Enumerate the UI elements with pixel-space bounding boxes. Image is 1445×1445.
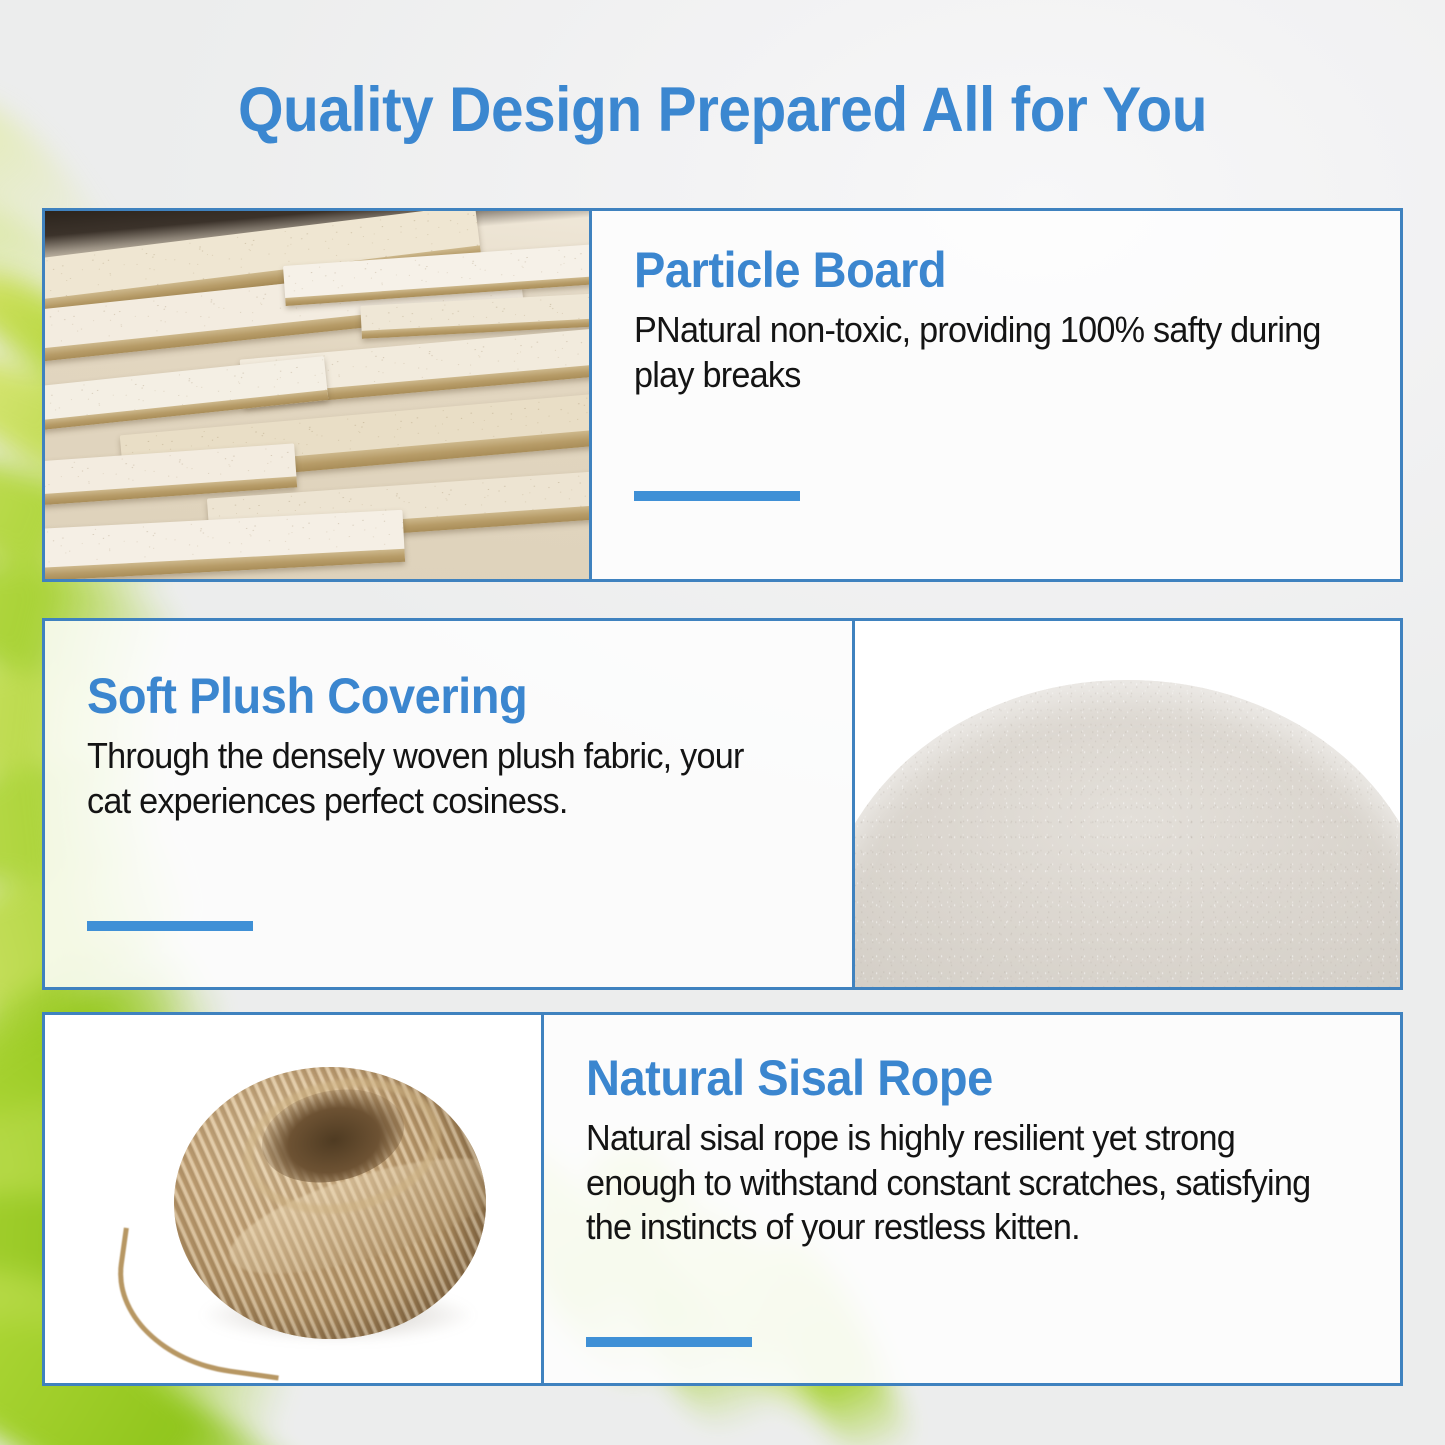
sisal-rope-text-panel: Natural Sisal Rope Natural sisal rope is… [544,1015,1400,1383]
page-title: Quality Design Prepared All for You [51,74,1395,146]
sisal-rope-photo [45,1015,544,1383]
feature-card-particle-board: Particle Board PNatural non-toxic, provi… [42,208,1403,582]
infographic-page: Quality Design Prepared All for You [0,0,1445,1445]
plush-fabric-photo [855,621,1400,987]
particle-board-photo [45,211,592,579]
accent-bar [87,921,253,931]
feature-card-natural-sisal-rope: Natural Sisal Rope Natural sisal rope is… [42,1012,1403,1386]
feature-body: PNatural non-toxic, providing 100% safty… [634,308,1322,397]
soft-plush-text-panel: Soft Plush Covering Through the densely … [45,621,855,987]
accent-bar [634,491,800,501]
accent-bar [586,1337,752,1347]
feature-body: Through the densely woven plush fabric, … [87,734,774,823]
feature-heading: Soft Plush Covering [87,671,767,722]
feature-heading: Particle Board [634,245,1315,296]
feature-heading: Natural Sisal Rope [586,1053,1312,1104]
feature-card-soft-plush-covering: Soft Plush Covering Through the densely … [42,618,1403,990]
feature-body: Natural sisal rope is highly resilient y… [586,1116,1319,1250]
particle-board-text-panel: Particle Board PNatural non-toxic, provi… [592,211,1400,579]
